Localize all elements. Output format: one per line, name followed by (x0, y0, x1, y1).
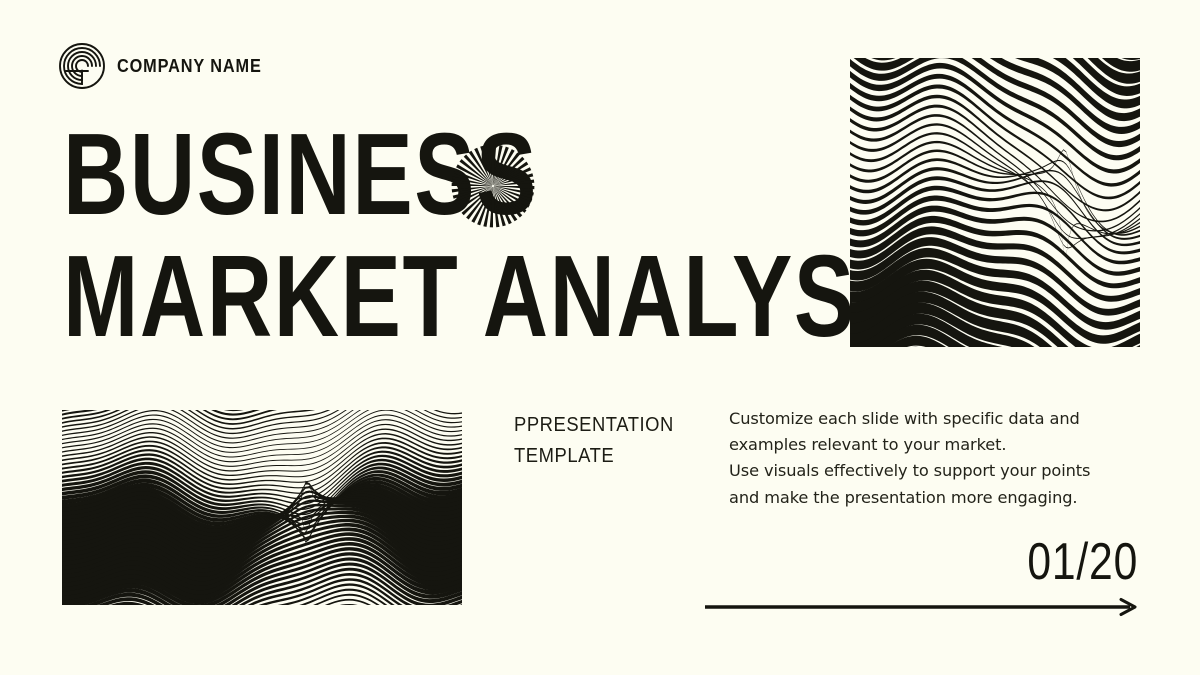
company-name-label: COMPANY NAME (117, 57, 262, 76)
sunburst-radial-icon (448, 141, 538, 231)
body-line-4: and make the presentation more engaging. (729, 485, 1129, 511)
body-line-2: examples relevant to your market. (729, 432, 1129, 458)
page-title-line-2: MARKET ANALYSIS (63, 240, 687, 353)
body-line-1: Customize each slide with specific data … (729, 406, 1129, 432)
subtitle-line-1: PPRESENTATION (514, 410, 674, 441)
body-line-3: Use visuals effectively to support your … (729, 458, 1129, 484)
arrow-right-icon (703, 596, 1143, 618)
concentric-spiral-logo-icon (58, 42, 106, 90)
subtitle-line-2: TEMPLATE (514, 441, 674, 472)
brand-lockup: COMPANY NAME (58, 42, 281, 90)
op-art-ripple-pattern (62, 410, 462, 605)
slide-canvas: COMPANY NAME BUSINESS MARKET ANALYSIS PP… (0, 0, 1200, 675)
subtitle: PPRESENTATION TEMPLATE (514, 410, 674, 472)
op-art-wave-pattern (850, 58, 1140, 347)
page-title-line-1: BUSINESS (63, 118, 687, 231)
body-paragraph: Customize each slide with specific data … (729, 406, 1129, 511)
page-number: 01/20 (1027, 536, 1138, 588)
